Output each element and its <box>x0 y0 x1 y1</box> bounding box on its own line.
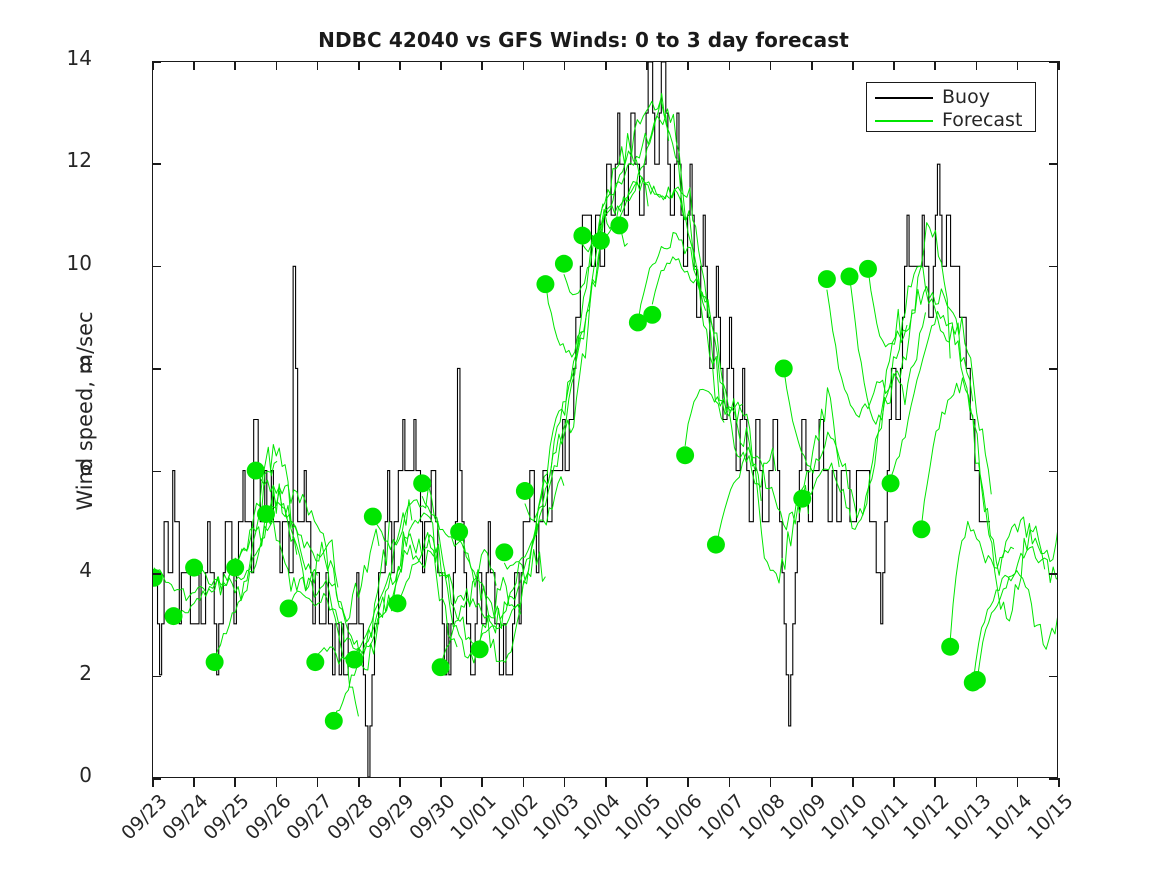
x-tick-mark <box>976 778 978 787</box>
forecast-start-marker <box>413 474 431 492</box>
forecast-start-marker <box>941 638 959 656</box>
forecast-start-marker <box>325 712 343 730</box>
plot-area <box>152 61 1058 778</box>
y-tick-mark <box>1049 266 1058 268</box>
legend-label-forecast: Forecast <box>942 111 1022 130</box>
x-tick-mark <box>440 61 442 70</box>
forecast-trace <box>174 484 297 617</box>
x-tick-mark <box>1017 61 1019 70</box>
forecast-start-marker <box>165 607 183 625</box>
forecast-start-marker <box>882 474 900 492</box>
legend-item-buoy: Buoy <box>875 86 1027 109</box>
series-buoy-line <box>153 62 990 777</box>
forecast-start-marker <box>432 658 450 676</box>
forecast-trace <box>685 389 808 583</box>
x-tick-mark <box>1058 61 1060 70</box>
page-title: NDBC 42040 vs GFS Winds: 0 to 3 day fore… <box>0 28 1167 52</box>
x-tick-mark <box>646 778 648 787</box>
x-tick-mark <box>770 778 772 787</box>
x-tick-mark <box>234 61 236 70</box>
x-tick-mark <box>811 778 813 787</box>
forecast-start-marker <box>643 306 661 324</box>
forecast-trace <box>601 177 724 422</box>
forecast-start-marker <box>912 520 930 538</box>
y-tick-mark <box>152 163 161 165</box>
x-tick-mark <box>934 778 936 787</box>
x-tick-mark <box>317 778 319 787</box>
forecast-start-marker <box>280 599 298 617</box>
x-tick-mark <box>481 61 483 70</box>
y-tick-mark <box>1049 471 1058 473</box>
forecast-start-marker <box>153 569 163 587</box>
forecast-start-marker <box>226 559 244 577</box>
forecast-trace <box>849 266 972 424</box>
y-tick-mark <box>1049 573 1058 575</box>
x-tick-mark <box>193 778 195 787</box>
y-tick-mark <box>152 368 161 370</box>
forecast-start-marker <box>516 482 534 500</box>
forecast-trace <box>215 444 338 659</box>
y-tick-mark <box>152 573 161 575</box>
x-tick-mark <box>605 61 607 70</box>
forecast-start-marker <box>495 543 513 561</box>
forecast-start-marker <box>676 446 694 464</box>
forecast-trace <box>827 223 950 418</box>
forecast-start-marker <box>306 653 324 671</box>
forecast-start-marker <box>968 671 986 689</box>
y-tick-mark <box>1049 61 1058 63</box>
y-tick-mark <box>1049 676 1058 678</box>
forecast-start-marker <box>610 216 628 234</box>
x-tick-mark <box>523 778 525 787</box>
forecast-start-marker <box>389 594 407 612</box>
y-tick-label: 0 <box>32 765 92 785</box>
forecast-start-marker <box>573 227 591 245</box>
x-tick-mark <box>852 778 854 787</box>
series-forecast-markers <box>153 216 986 729</box>
x-tick-mark <box>523 61 525 70</box>
legend-label-buoy: Buoy <box>942 88 990 107</box>
forecast-start-marker <box>247 462 265 480</box>
x-tick-mark <box>605 778 607 787</box>
forecast-trace <box>891 311 1014 575</box>
y-tick-mark <box>152 676 161 678</box>
x-tick-mark <box>564 61 566 70</box>
x-tick-mark <box>399 61 401 70</box>
forecast-start-marker <box>206 653 224 671</box>
forecast-start-marker <box>859 260 877 278</box>
x-tick-mark <box>317 61 319 70</box>
x-tick-mark <box>770 61 772 70</box>
x-tick-mark <box>893 778 895 787</box>
x-tick-mark <box>729 778 731 787</box>
forecast-start-marker <box>450 523 468 541</box>
forecast-trace <box>525 134 648 521</box>
forecast-trace <box>334 532 457 720</box>
x-tick-mark <box>358 61 360 70</box>
forecast-trace <box>950 475 1057 641</box>
x-tick-mark <box>440 778 442 787</box>
forecast-start-marker <box>592 232 610 250</box>
x-tick-mark <box>276 778 278 787</box>
forecast-start-marker <box>707 536 725 554</box>
forecast-start-marker <box>536 275 554 293</box>
x-tick-mark <box>481 778 483 787</box>
legend-swatch-forecast <box>875 120 933 122</box>
x-tick-mark <box>811 61 813 70</box>
forecast-start-marker <box>471 640 489 658</box>
legend: Buoy Forecast <box>866 82 1036 132</box>
forecast-start-marker <box>775 359 793 377</box>
x-tick-mark <box>193 61 195 70</box>
y-tick-mark <box>152 471 161 473</box>
forecast-start-marker <box>793 490 811 508</box>
series-forecast-lines <box>154 93 1057 720</box>
forecast-start-marker <box>345 651 363 669</box>
y-tick-mark <box>1049 163 1058 165</box>
forecast-trace <box>480 204 603 641</box>
forecast-trace <box>977 547 1057 683</box>
buoy-trace <box>153 62 990 777</box>
y-tick-label: 4 <box>32 560 92 580</box>
x-tick-mark <box>1058 778 1060 787</box>
x-tick-mark <box>893 61 895 70</box>
y-tick-label: 14 <box>32 48 92 68</box>
forecast-start-marker <box>818 270 836 288</box>
x-tick-mark <box>976 61 978 70</box>
x-tick-mark <box>234 778 236 787</box>
x-tick-mark <box>852 61 854 70</box>
x-tick-mark <box>687 61 689 70</box>
y-tick-label: 12 <box>32 150 92 170</box>
x-tick-mark <box>934 61 936 70</box>
x-tick-mark <box>1017 778 1019 787</box>
y-tick-label: 8 <box>32 355 92 375</box>
x-tick-mark <box>646 61 648 70</box>
forecast-start-marker <box>364 508 382 526</box>
y-tick-mark <box>1049 368 1058 370</box>
x-tick-mark <box>152 778 154 787</box>
legend-item-forecast: Forecast <box>875 109 1027 132</box>
forecast-start-marker <box>257 505 275 523</box>
x-tick-mark <box>687 778 689 787</box>
x-tick-mark <box>276 61 278 70</box>
x-tick-mark <box>152 61 154 70</box>
y-tick-label: 6 <box>32 458 92 478</box>
wind-speed-figure: NDBC 42040 vs GFS Winds: 0 to 3 day fore… <box>0 0 1167 875</box>
x-tick-mark <box>564 778 566 787</box>
forecast-start-marker <box>555 255 573 273</box>
y-tick-label: 10 <box>32 253 92 273</box>
x-tick-mark <box>729 61 731 70</box>
y-tick-mark <box>1049 778 1058 780</box>
y-tick-mark <box>152 266 161 268</box>
y-tick-label: 2 <box>32 663 92 683</box>
plot-canvas <box>153 62 1057 777</box>
x-tick-mark <box>399 778 401 787</box>
x-tick-mark <box>358 778 360 787</box>
forecast-trace <box>638 232 761 500</box>
forecast-trace <box>652 257 775 487</box>
legend-swatch-buoy <box>875 97 933 99</box>
forecast-start-marker <box>185 559 203 577</box>
forecast-start-marker <box>841 268 859 286</box>
